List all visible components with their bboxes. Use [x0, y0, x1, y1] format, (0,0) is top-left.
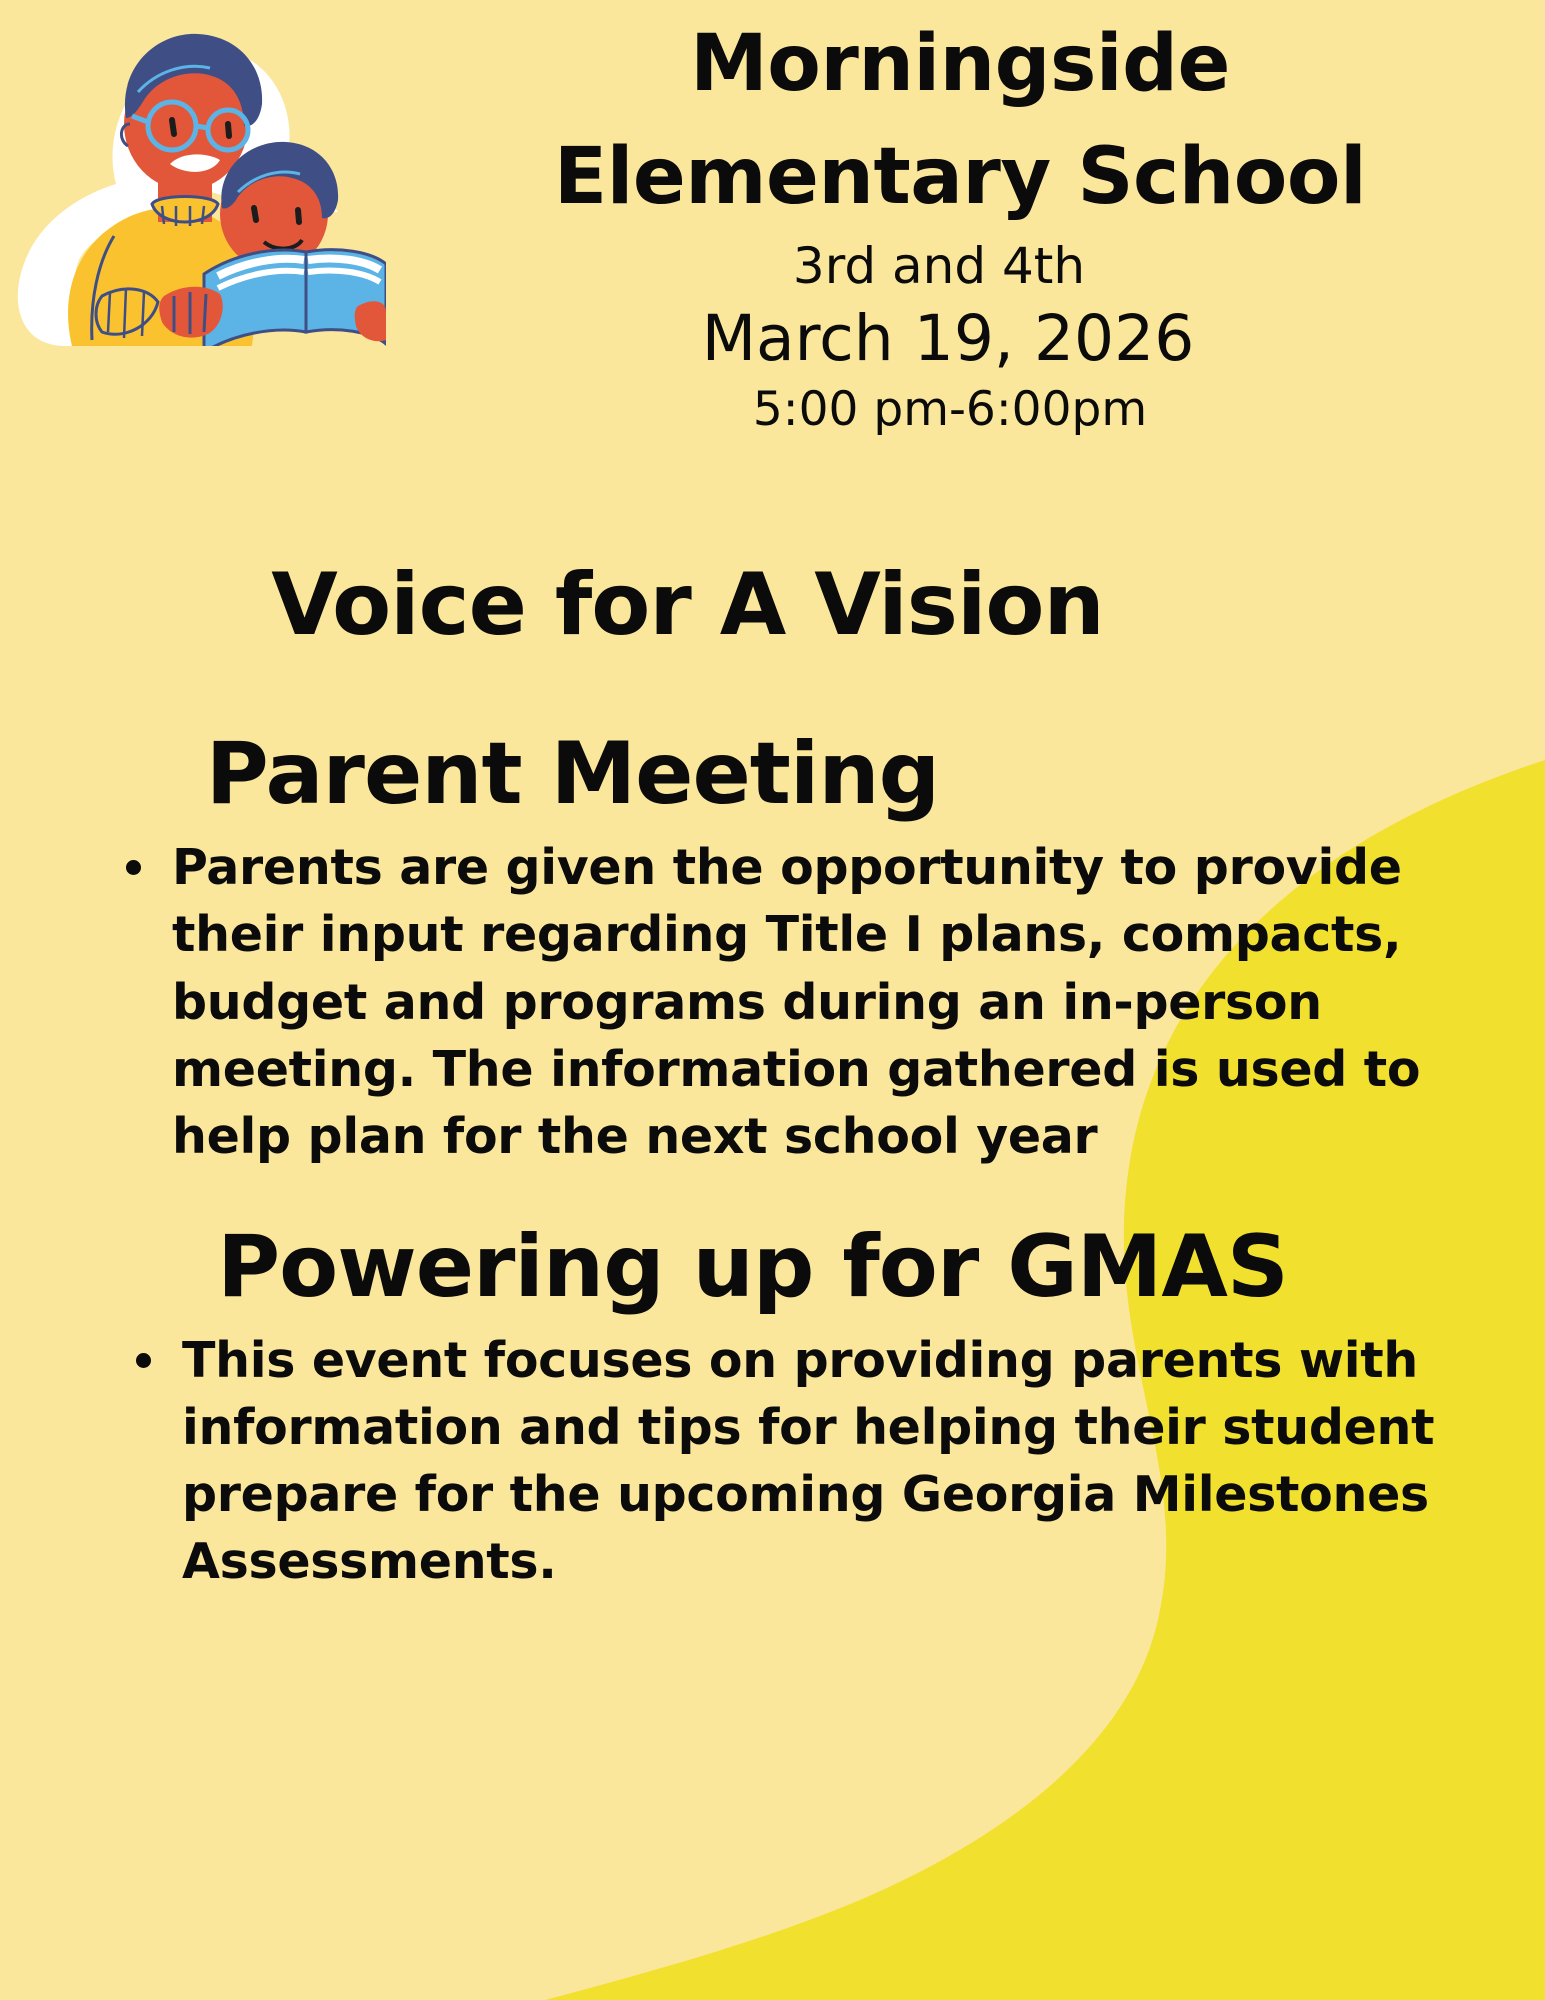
bullet-text: This event focuses on providing parents … [182, 1332, 1434, 1590]
grades-text: 3rd and 4th [400, 240, 1520, 293]
event-time: 5:00 pm-6:00pm [400, 384, 1520, 436]
adult-and-child-reading-icon [6, 0, 386, 346]
event-date: March 19, 2026 [400, 301, 1520, 377]
bullet-text: Parents are given the opportunity to pro… [172, 839, 1420, 1165]
section-2-bullet-list: This event focuses on providing parents … [0, 1327, 1545, 1596]
bullet-dot-icon [126, 860, 141, 875]
body-block: Voice for A Vision Parent Meeting Parent… [0, 560, 1545, 1596]
section-1-headline-line-2: Parent Meeting [0, 729, 1545, 820]
list-item: Parents are given the opportunity to pro… [120, 834, 1485, 1170]
section-2-headline: Powering up for GMAS [0, 1222, 1545, 1313]
section-1-bullet-list: Parents are given the opportunity to pro… [0, 834, 1545, 1170]
list-item: This event focuses on providing parents … [130, 1327, 1465, 1596]
flyer-poster: Morningside Elementary School 3rd and 4t… [0, 0, 1545, 2000]
page-title: Morningside Elementary School [400, 0, 1520, 234]
school-name-line-1: Morningside [690, 19, 1230, 109]
header-block: Morningside Elementary School 3rd and 4t… [400, 0, 1520, 436]
bullet-dot-icon [136, 1353, 151, 1368]
section-1-headline-line-1: Voice for A Vision [0, 560, 1545, 651]
school-name-line-2: Elementary School [400, 121, 1520, 234]
